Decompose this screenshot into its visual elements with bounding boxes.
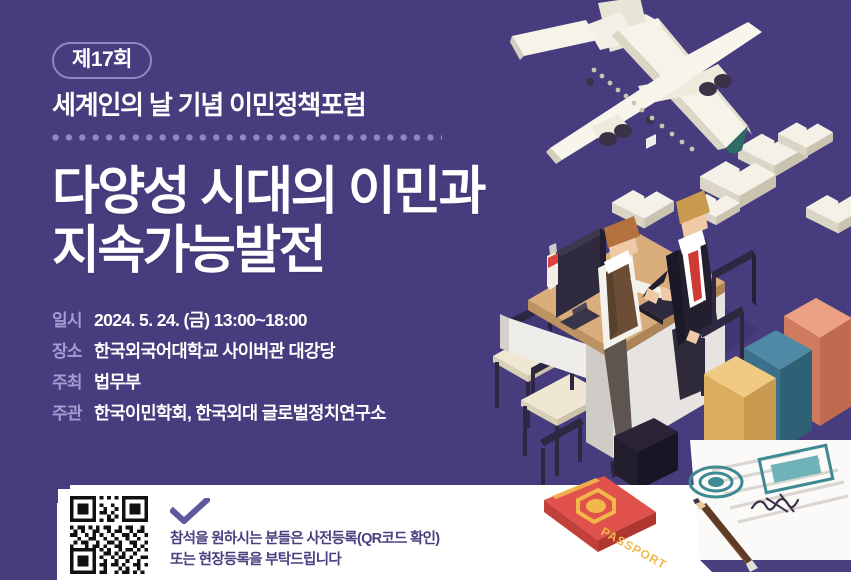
detail-row-venue: 장소 한국외국어대학교 사이버관 대강당: [52, 337, 522, 363]
title-line-1: 다양성 시대의 이민과: [52, 163, 522, 222]
checkmark-icon: [170, 498, 210, 524]
registration-text-block: 참석을 원하시는 분들은 사전등록(QR코드 확인) 또는 현장등록을 부탁드립…: [170, 496, 439, 571]
detail-value: 한국이민학회, 한국외대 글로벌정치연구소: [94, 400, 386, 425]
registration-line-2: 또는 현장등록을 부탁드립니다: [170, 550, 439, 571]
poster-root: PASSPORT 제17회 세계인의 날 기념 이민정책포럼 다양성 시대의 이…: [0, 0, 851, 580]
poster-title: 다양성 시대의 이민과 지속가능발전: [52, 163, 522, 281]
poster-subtitle: 세계인의 날 기념 이민정책포럼: [52, 91, 522, 121]
detail-label: 주관: [52, 399, 94, 424]
title-line-2: 지속가능발전: [52, 222, 522, 281]
detail-label: 일시: [52, 306, 94, 331]
detail-label: 장소: [52, 337, 94, 362]
dotted-divider: [52, 134, 442, 141]
detail-value: 2024. 5. 24. (금) 13:00~18:00: [94, 307, 307, 332]
detail-value: 한국외국어대학교 사이버관 대강당: [94, 338, 335, 363]
registration-line-1: 참석을 원하시는 분들은 사전등록(QR코드 확인): [170, 529, 439, 550]
event-details: 일시 2024. 5. 24. (금) 13:00~18:00 장소 한국외국어…: [52, 306, 522, 425]
qr-code-icon[interactable]: [70, 496, 148, 574]
poster-text-column: 제17회 세계인의 날 기념 이민정책포럼 다양성 시대의 이민과 지속가능발전…: [52, 42, 522, 430]
detail-value: 법무부: [94, 369, 141, 394]
document-icon: [690, 440, 851, 572]
edition-badge: 제17회: [52, 42, 152, 79]
detail-row-host: 주최 법무부: [52, 368, 522, 394]
detail-label: 주최: [52, 368, 94, 393]
registration-panel: 참석을 원하시는 분들은 사전등록(QR코드 확인) 또는 현장등록을 부탁드립…: [70, 496, 439, 574]
detail-row-date: 일시 2024. 5. 24. (금) 13:00~18:00: [52, 306, 522, 332]
detail-row-organizer: 주관 한국이민학회, 한국외대 글로벌정치연구소: [52, 399, 522, 425]
